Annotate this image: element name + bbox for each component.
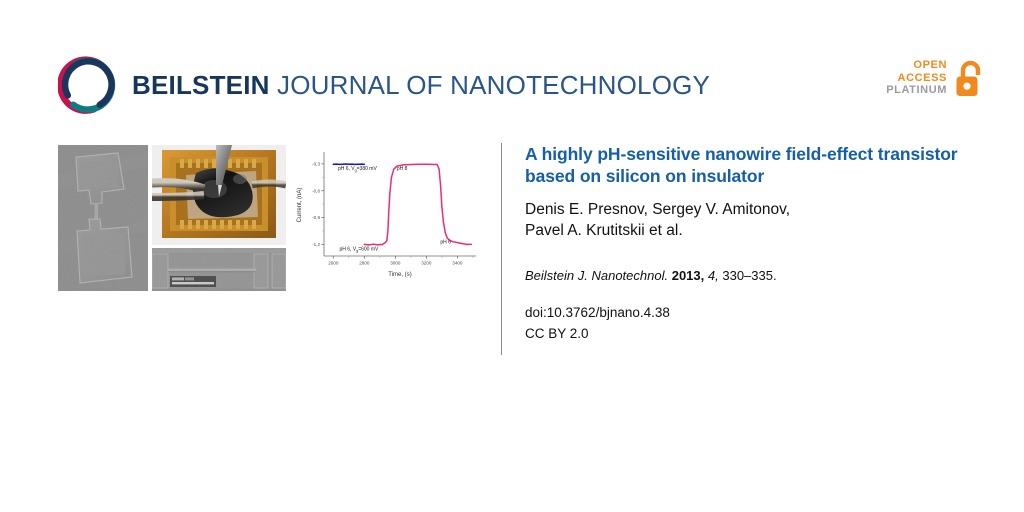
citation-year: 2013, xyxy=(672,268,705,283)
citation: Beilstein J. Nanotechnol. 2013, 4, 330–3… xyxy=(525,267,995,285)
doi-text[interactable]: doi:10.3762/bjnano.4.38 xyxy=(525,303,995,323)
wordmark-beilstein: BEILSTEIN xyxy=(132,70,270,100)
citation-volume: 4, xyxy=(708,268,719,283)
author-line-2: Pavel A. Krutitskii et al. xyxy=(525,222,683,239)
article-metadata: A highly pH-sensitive nanowire field-eff… xyxy=(525,143,995,344)
svg-text:3200: 3200 xyxy=(421,261,432,266)
current-vs-time-plot: -1,2-0,9-0,6-0,326002800300032003400Time… xyxy=(290,140,483,292)
open-lock-icon xyxy=(954,58,988,98)
vertical-divider xyxy=(501,143,502,355)
license-text[interactable]: CC BY 2.0 xyxy=(525,324,995,344)
open-access-text: OPEN ACCESS PLATINUM xyxy=(886,59,947,98)
beilstein-circle-logo-icon xyxy=(58,56,116,114)
sem-image-nanowire-pads xyxy=(58,145,148,291)
oa-line-platinum: PLATINUM xyxy=(886,84,947,97)
citation-pages: 330–335. xyxy=(722,268,776,283)
page-title[interactable]: A highly pH-sensitive nanowire field-eff… xyxy=(525,143,995,187)
journal-logo-block[interactable]: BEILSTEIN JOURNAL OF NANOTECHNOLOGY xyxy=(58,56,710,114)
svg-text:pH 6: pH 6 xyxy=(440,239,451,245)
svg-text:Current, (nA): Current, (nA) xyxy=(297,188,303,223)
svg-text:-0,9: -0,9 xyxy=(312,215,320,220)
svg-text:pH 6, Vg=380 mV: pH 6, Vg=380 mV xyxy=(338,166,378,172)
graphical-abstract: -1,2-0,9-0,6-0,326002800300032003400Time… xyxy=(58,145,483,293)
svg-text:pH 8: pH 8 xyxy=(397,166,408,172)
masthead: BEILSTEIN JOURNAL OF NANOTECHNOLOGY OPEN… xyxy=(0,0,1024,130)
open-access-badge[interactable]: OPEN ACCESS PLATINUM xyxy=(886,58,988,98)
author-line-1: Denis E. Presnov, Sergey V. Amitonov, xyxy=(525,201,790,218)
svg-text:Time, (s): Time, (s) xyxy=(388,272,411,278)
svg-text:-1,2: -1,2 xyxy=(312,242,320,247)
journal-wordmark: BEILSTEIN JOURNAL OF NANOTECHNOLOGY xyxy=(132,72,710,98)
svg-text:pH 6, Vg=600 mV: pH 6, Vg=600 mV xyxy=(340,247,380,253)
oa-line-open: OPEN xyxy=(886,59,947,72)
svg-text:3000: 3000 xyxy=(390,261,401,266)
citation-journal: Beilstein J. Nanotechnol. xyxy=(525,268,668,283)
sem-image-nanowire-channel xyxy=(152,248,286,291)
svg-text:2800: 2800 xyxy=(359,261,370,266)
svg-text:-0,6: -0,6 xyxy=(312,188,320,193)
svg-text:-0,3: -0,3 xyxy=(312,162,320,167)
svg-text:3400: 3400 xyxy=(452,261,463,266)
oa-line-access: ACCESS xyxy=(886,72,947,85)
wordmark-subtitle: JOURNAL OF NANOTECHNOLOGY xyxy=(270,70,711,100)
author-list: Denis E. Presnov, Sergey V. Amitonov, Pa… xyxy=(525,199,995,241)
svg-text:2600: 2600 xyxy=(328,261,339,266)
photo-packaged-chip xyxy=(152,145,286,245)
ph-response-chart: -1,2-0,9-0,6-0,326002800300032003400Time… xyxy=(290,140,483,292)
